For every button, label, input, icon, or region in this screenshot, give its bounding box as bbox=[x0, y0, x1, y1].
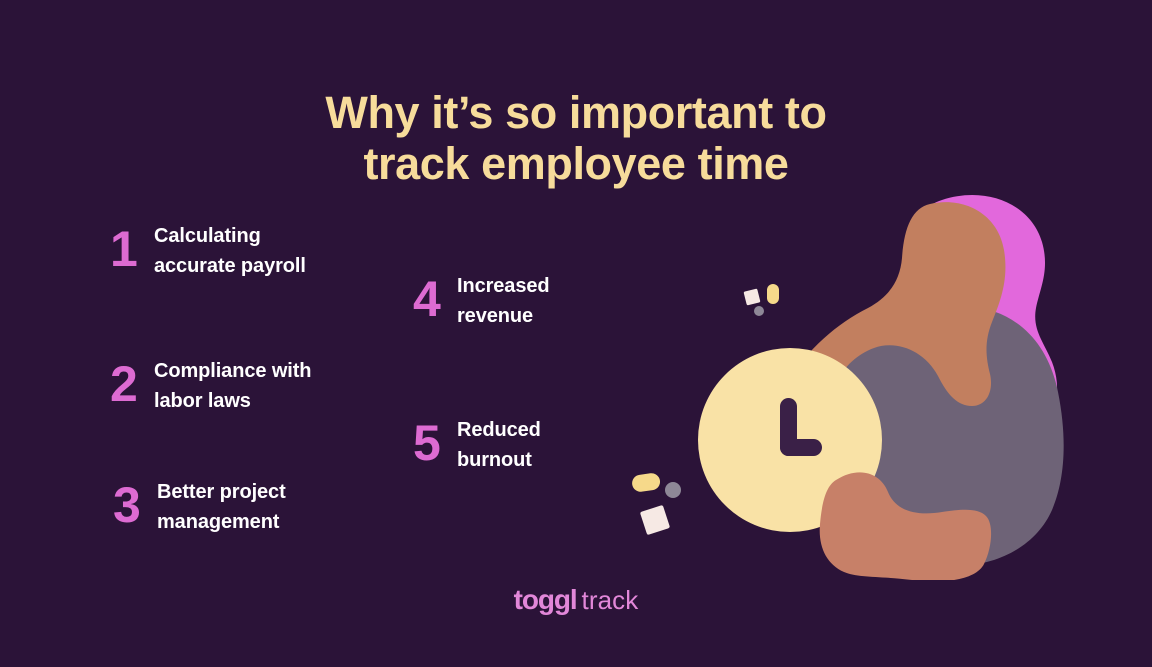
benefit-item-4: 4 Increased revenue bbox=[413, 272, 550, 331]
confetti-dot-bottom bbox=[665, 482, 681, 498]
confetti-dot-top bbox=[754, 306, 764, 316]
benefit-item-3: 3 Better project management bbox=[113, 478, 286, 537]
benefit-item-2: 2 Compliance with labor laws bbox=[110, 357, 311, 416]
benefit-item-5: 5 Reduced burnout bbox=[413, 416, 541, 475]
benefit-label-1: Calculating accurate payroll bbox=[154, 222, 306, 281]
benefit-number-2: 2 bbox=[110, 359, 150, 409]
confetti-pill-bottom bbox=[631, 472, 661, 493]
benefit-number-3: 3 bbox=[113, 480, 153, 530]
logo-brand-text: toggl bbox=[514, 584, 577, 615]
benefit-item-1: 1 Calculating accurate payroll bbox=[110, 222, 306, 281]
confetti-square-top bbox=[744, 289, 761, 306]
confetti-pill-top bbox=[767, 284, 779, 304]
benefit-label-4: Increased revenue bbox=[457, 272, 550, 331]
benefit-number-5: 5 bbox=[413, 418, 453, 468]
benefit-number-1: 1 bbox=[110, 224, 150, 274]
page-title: Why it’s so important to track employee … bbox=[0, 88, 1152, 189]
logo-product-text: track bbox=[582, 585, 639, 615]
benefit-label-5: Reduced burnout bbox=[457, 416, 541, 475]
confetti-square-bottom bbox=[640, 505, 670, 535]
person-sitting-with-clock-illustration bbox=[612, 180, 1102, 580]
benefit-number-4: 4 bbox=[413, 274, 453, 324]
infographic-canvas: Why it’s so important to track employee … bbox=[0, 0, 1152, 667]
benefit-label-3: Better project management bbox=[157, 478, 286, 537]
benefit-label-2: Compliance with labor laws bbox=[154, 357, 311, 416]
brand-logo: toggltrack bbox=[0, 586, 1152, 614]
